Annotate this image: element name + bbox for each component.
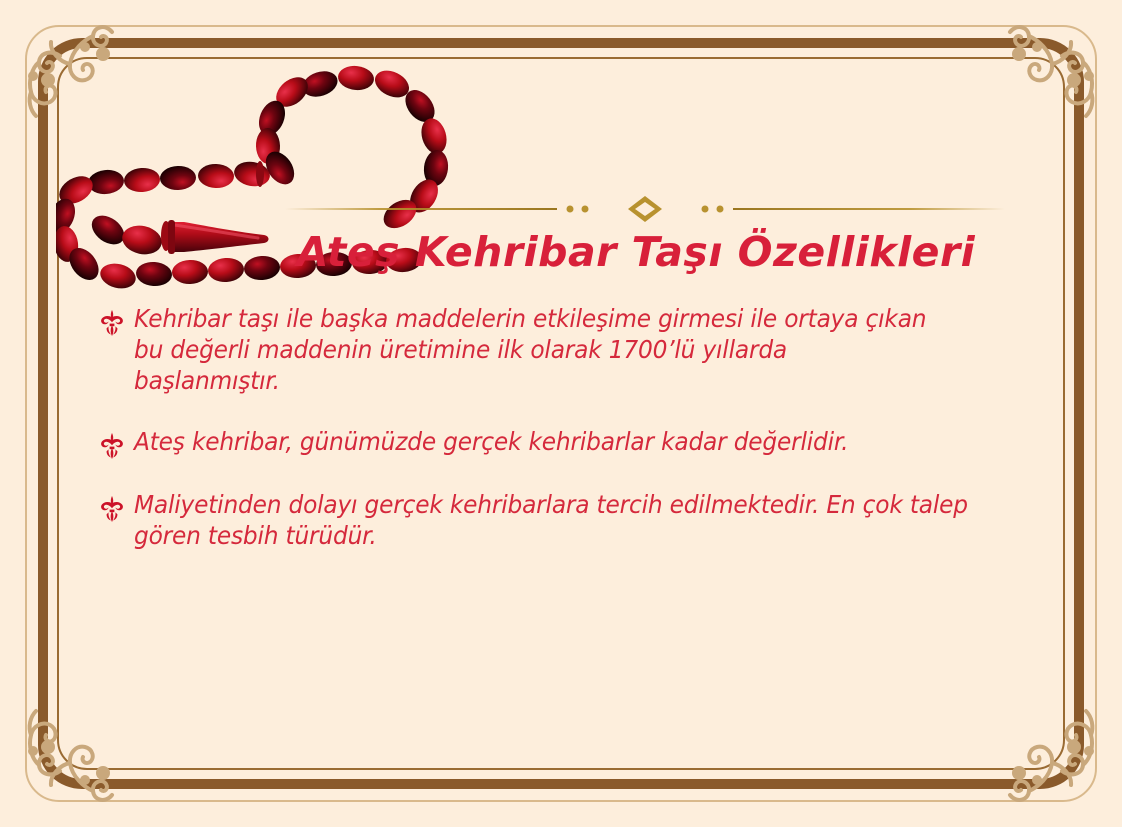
corner-flourish-icon — [978, 683, 1108, 813]
info-card: Ateş Kehribar Taşı Özellikleri Kehri — [0, 0, 1122, 827]
corner-flourish-icon — [978, 14, 1108, 144]
list-item: Kehribar taşı ile başka maddelerin etkil… — [100, 303, 1040, 396]
corner-flourish-icon — [14, 683, 144, 813]
feature-list: Kehribar taşı ile başka maddelerin etkil… — [100, 303, 1040, 579]
corner-flourish-icon — [14, 14, 144, 144]
diamond-divider-ornament — [285, 196, 1005, 222]
list-item-text: Ateş kehribar, günümüzde gerçek kehribar… — [134, 426, 995, 457]
fleur-de-lis-bullet-icon — [100, 489, 134, 522]
list-item-text: Maliyetinden dolayı gerçek kehribarlara … — [134, 489, 995, 551]
list-item: Maliyetinden dolayı gerçek kehribarlara … — [100, 489, 1040, 551]
page-title: Ateş Kehribar Taşı Özellikleri — [0, 228, 1122, 276]
fleur-de-lis-bullet-icon — [100, 426, 134, 459]
list-item: Ateş kehribar, günümüzde gerçek kehribar… — [100, 426, 1040, 459]
fleur-de-lis-bullet-icon — [100, 303, 134, 336]
list-item-text: Kehribar taşı ile başka maddelerin etkil… — [134, 303, 932, 396]
